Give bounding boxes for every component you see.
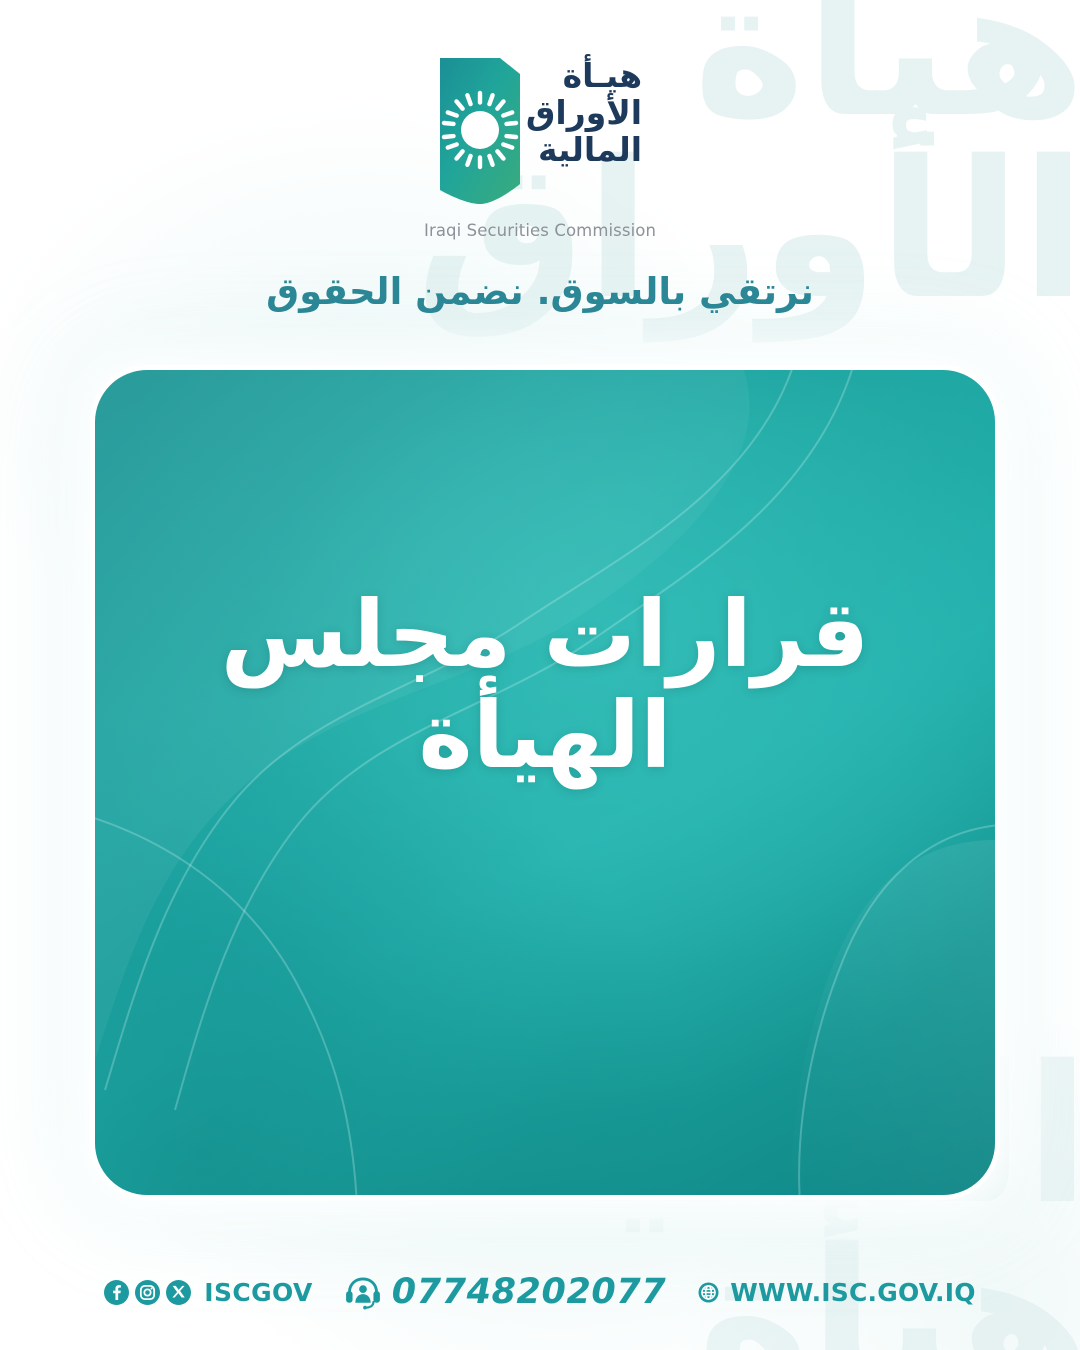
logo-lockup: هيـأة الأوراق المالية bbox=[430, 52, 650, 212]
phone-number[interactable]: 07748202077 bbox=[392, 1272, 666, 1312]
social-handle[interactable]: ISCGOV bbox=[204, 1278, 313, 1307]
main-card-surface: قرارات مجلس الهيأة bbox=[95, 370, 995, 1195]
sunburst-banner-emblem-icon bbox=[434, 52, 526, 212]
phone-group: 07748202077 bbox=[343, 1272, 666, 1312]
tagline: نرتقي بالسوق. نضمن الحقوق bbox=[266, 270, 814, 313]
logo-line-3: المالية bbox=[526, 132, 642, 169]
social-icons bbox=[104, 1280, 191, 1305]
website-url[interactable]: WWW.ISC.GOV.IQ bbox=[730, 1278, 975, 1307]
logo-english-subtitle: Iraqi Securities Commission bbox=[424, 221, 656, 240]
social-group: ISCGOV bbox=[104, 1278, 313, 1307]
instagram-icon[interactable] bbox=[135, 1280, 160, 1305]
logo-wordmark: هيـأة الأوراق المالية bbox=[526, 52, 650, 169]
website-group: WWW.ISC.GOV.IQ bbox=[696, 1278, 975, 1307]
x-twitter-icon[interactable] bbox=[166, 1280, 191, 1305]
header: هيـأة الأوراق المالية bbox=[0, 52, 1080, 313]
logo-line-2: الأوراق bbox=[526, 95, 642, 132]
poster-background: هيأة الأوراق المالية هيأة هيـأة الأوراق … bbox=[0, 0, 1080, 1350]
globe-icon bbox=[696, 1280, 721, 1305]
logo-line-1: هيـأة bbox=[526, 58, 642, 95]
facebook-icon[interactable] bbox=[104, 1280, 129, 1305]
headset-support-icon bbox=[343, 1274, 383, 1310]
card-title: قرارات مجلس الهيأة bbox=[95, 584, 995, 786]
footer-contact-bar: ISCGOV 07748202077 bbox=[0, 1272, 1080, 1312]
main-card: قرارات مجلس الهيأة bbox=[95, 370, 995, 1195]
